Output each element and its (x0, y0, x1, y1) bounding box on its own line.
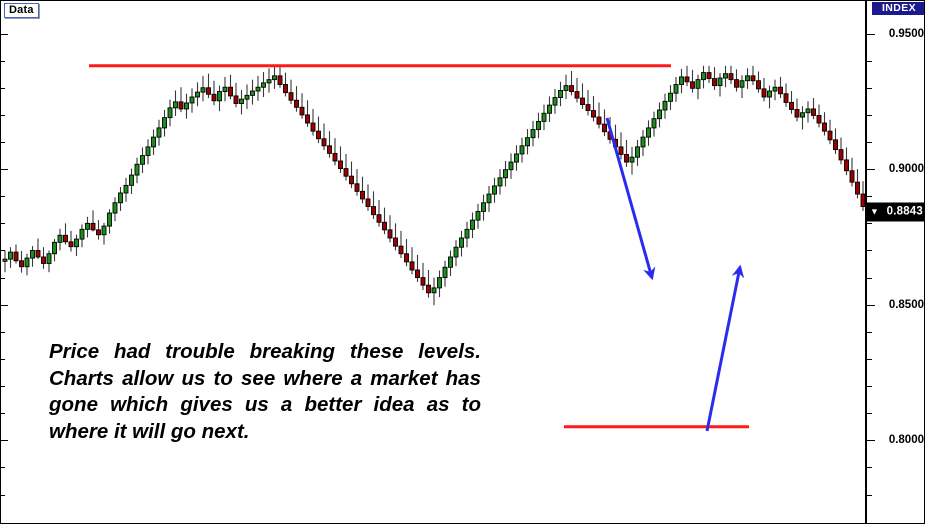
left-axis-minor-tick (1, 88, 5, 89)
triangle-down-icon: ▼ (870, 207, 879, 216)
current-price-badge: ▼ 0.8843 (867, 202, 925, 221)
left-axis-major-tick (1, 169, 8, 170)
left-axis-minor-tick (1, 332, 5, 333)
price-axis-label-1: 0.9000 (889, 163, 924, 175)
left-axis-minor-tick (1, 495, 5, 496)
data-tab-label[interactable]: Data (4, 3, 39, 18)
price-axis-minor-tick (867, 196, 872, 197)
price-axis-minor-tick (867, 359, 872, 360)
left-axis-minor-tick (1, 196, 5, 197)
annotation-paragraph: Price had trouble breaking these levels.… (49, 339, 481, 445)
axis-header-label: INDEX (872, 2, 925, 15)
left-axis-minor-tick (1, 142, 5, 143)
price-axis-minor-tick (867, 115, 872, 116)
left-axis-minor-tick (1, 386, 5, 387)
left-axis-minor-tick (1, 250, 5, 251)
up-trend-arrow[interactable] (707, 267, 740, 431)
left-axis-major-tick (1, 34, 8, 35)
price-axis-minor-tick (867, 223, 872, 224)
price-axis-minor-tick (867, 386, 872, 387)
left-axis-minor-tick (1, 115, 5, 116)
price-axis-minor-tick (867, 467, 872, 468)
price-axis-major-tick (867, 34, 875, 35)
left-axis-major-tick (1, 440, 8, 441)
left-axis-minor-tick (1, 359, 5, 360)
price-axis[interactable]: INDEX 0.95000.90000.85000.8000 ▼ 0.8843 (867, 1, 925, 523)
price-axis-minor-tick (867, 250, 872, 251)
left-axis-minor-tick (1, 467, 5, 468)
price-axis-major-tick (867, 440, 875, 441)
price-axis-major-tick (867, 305, 875, 306)
current-price-value: 0.8843 (887, 206, 923, 218)
price-axis-minor-tick (867, 142, 872, 143)
left-axis-minor-tick (1, 223, 5, 224)
price-axis-label-2: 0.8500 (889, 299, 924, 311)
price-axis-minor-tick (867, 332, 872, 333)
price-axis-major-tick (867, 169, 875, 170)
price-axis-minor-tick (867, 88, 872, 89)
chart-annotation-text: Price had trouble breaking these levels.… (49, 339, 481, 445)
left-axis-major-tick (1, 305, 8, 306)
chart-window: Data Price had trouble breaking these le… (0, 0, 925, 524)
left-axis-minor-tick (1, 413, 5, 414)
price-axis-minor-tick (867, 495, 872, 496)
left-axis-minor-tick (1, 61, 5, 62)
price-axis-label-3: 0.8000 (889, 434, 924, 446)
price-axis-minor-tick (867, 61, 872, 62)
price-axis-minor-tick (867, 278, 872, 279)
price-axis-minor-tick (867, 413, 872, 414)
price-axis-label-0: 0.9500 (889, 28, 924, 40)
left-axis-minor-tick (1, 278, 5, 279)
